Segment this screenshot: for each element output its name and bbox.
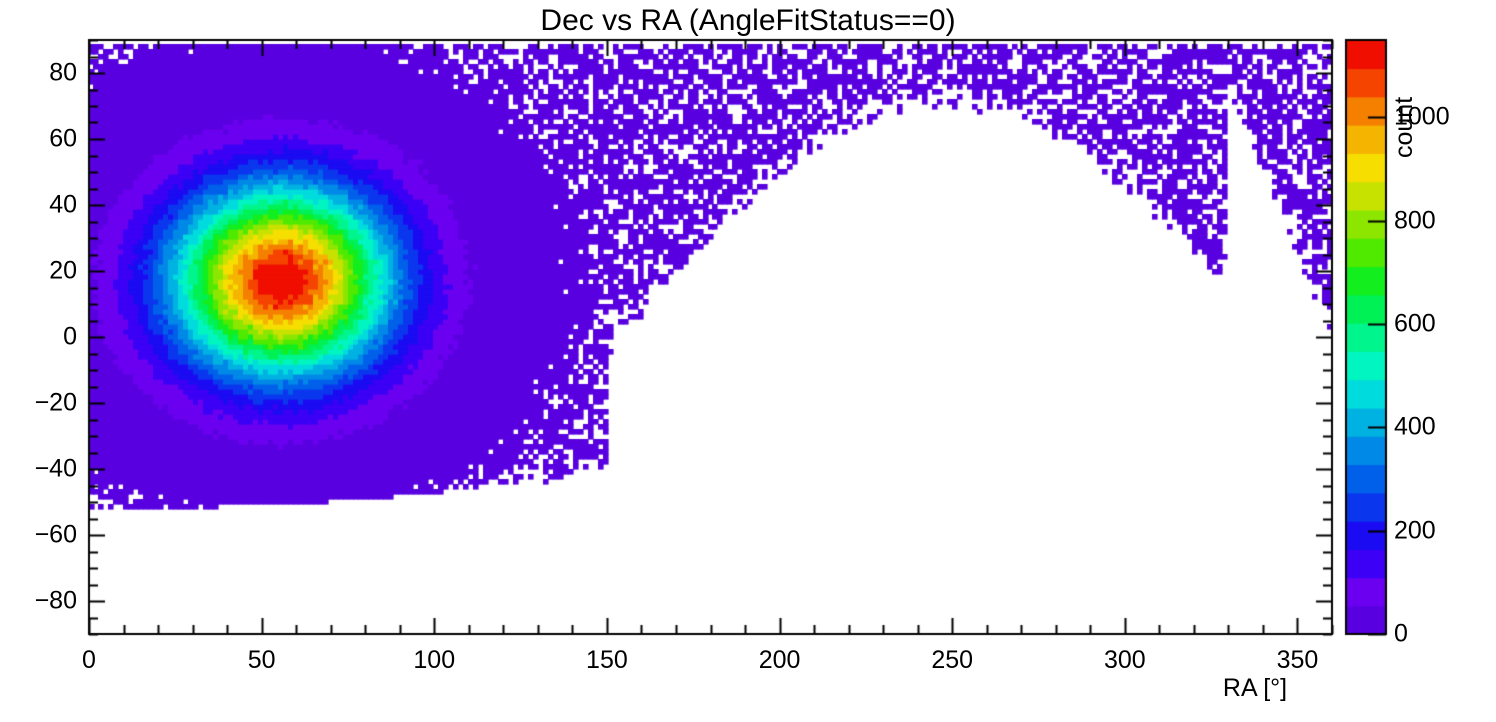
y-tick-label-7: 60 (0, 127, 77, 152)
plot-root: Dec vs RA (AngleFitStatus==0) RA [°] dec… (0, 0, 1496, 722)
x-axis-label: RA [°] (1180, 676, 1330, 701)
x-tick-label-350: 350 (1277, 648, 1319, 673)
x-tick-label-200: 200 (759, 648, 801, 673)
colorbar-label: count (1392, 18, 1417, 158)
y-tick-label-2: −40 (0, 457, 77, 482)
y-tick-label-3: −20 (0, 391, 77, 416)
x-tick-label-150: 150 (586, 648, 628, 673)
x-tick-label-300: 300 (1104, 648, 1146, 673)
x-tick-label-100: 100 (413, 648, 455, 673)
y-tick-label-8: 80 (0, 61, 77, 86)
x-tick-label-50: 50 (248, 648, 276, 673)
colorbar-tick-label-400: 400 (1394, 415, 1436, 440)
histogram-canvas (0, 0, 1496, 722)
colorbar-tick-label-800: 800 (1394, 208, 1436, 233)
colorbar-tick-label-1000: 1000 (1394, 105, 1450, 130)
y-tick-label-1: −60 (0, 523, 77, 548)
colorbar-tick-label-0: 0 (1394, 622, 1408, 647)
y-tick-label-0: −80 (0, 589, 77, 614)
y-tick-label-6: 40 (0, 193, 77, 218)
page-title: Dec vs RA (AngleFitStatus==0) (0, 6, 1496, 36)
x-tick-label-250: 250 (931, 648, 973, 673)
colorbar-tick-label-600: 600 (1394, 312, 1436, 337)
colorbar-tick-label-200: 200 (1394, 518, 1436, 543)
x-tick-label-0: 0 (82, 648, 96, 673)
y-tick-label-5: 20 (0, 259, 77, 284)
y-tick-label-4: 0 (0, 325, 77, 350)
